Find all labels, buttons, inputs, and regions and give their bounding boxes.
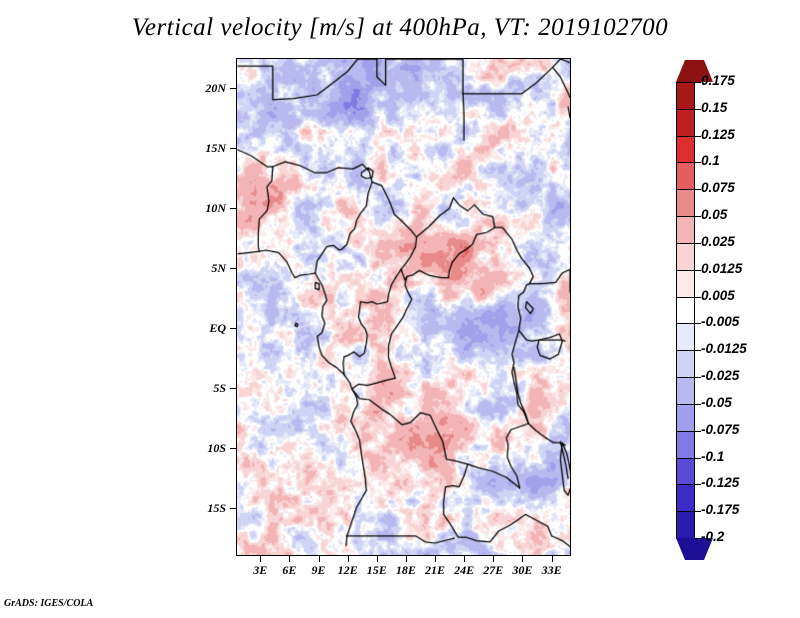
colorbar-band <box>676 431 695 459</box>
colorbar-label: 0.005 <box>701 288 735 303</box>
y-axis-label: 15S <box>190 501 226 516</box>
x-axis-tick <box>406 556 407 562</box>
colorbar-band <box>676 243 695 271</box>
colorbar-label: 0.175 <box>701 73 735 88</box>
x-axis-tick <box>319 556 320 562</box>
colorbar-band <box>676 484 695 512</box>
y-axis-tick <box>230 208 236 209</box>
grads-plot-root: Vertical velocity [m/s] at 400hPa, VT: 2… <box>0 0 800 618</box>
colorbar-band <box>676 109 695 137</box>
x-axis-tick <box>493 556 494 562</box>
colorbar-label: -0.075 <box>701 422 739 437</box>
y-axis-label: 20N <box>190 81 226 96</box>
colorbar-band <box>676 350 695 378</box>
colorbar <box>676 60 695 560</box>
y-axis-label: 10N <box>190 201 226 216</box>
colorbar-band <box>676 404 695 432</box>
colorbar-band <box>676 511 695 539</box>
colorbar-label: -0.05 <box>701 395 732 410</box>
colorbar-label: -0.2 <box>701 529 724 544</box>
y-axis-label: 5S <box>190 381 226 396</box>
colorbar-label: -0.0125 <box>701 341 747 356</box>
x-axis-tick <box>435 556 436 562</box>
y-axis-tick <box>230 508 236 509</box>
x-axis-tick <box>552 556 553 562</box>
colorbar-label: 0.15 <box>701 100 727 115</box>
x-axis-tick <box>464 556 465 562</box>
credit-text: GrADS: IGES/COLA <box>4 598 93 609</box>
colorbar-band <box>676 297 695 325</box>
y-axis-tick <box>230 328 236 329</box>
y-axis-tick <box>230 268 236 269</box>
y-axis-label: 5N <box>190 261 226 276</box>
y-axis-tick <box>230 148 236 149</box>
y-axis-label: 15N <box>190 141 226 156</box>
colorbar-label: 0.0125 <box>701 261 742 276</box>
colorbar-band <box>676 323 695 351</box>
x-axis-tick <box>348 556 349 562</box>
x-axis-tick <box>289 556 290 562</box>
vertical-velocity-heatmap <box>237 59 570 555</box>
colorbar-label: 0.05 <box>701 207 727 222</box>
colorbar-band <box>676 189 695 217</box>
colorbar-band <box>676 216 695 244</box>
colorbar-band <box>676 270 695 298</box>
x-axis-tick <box>522 556 523 562</box>
x-axis-tick <box>260 556 261 562</box>
colorbar-band <box>676 136 695 164</box>
colorbar-label: 0.075 <box>701 180 735 195</box>
y-axis-label: 10S <box>190 441 226 456</box>
colorbar-label: -0.1 <box>701 449 724 464</box>
colorbar-label: -0.005 <box>701 314 739 329</box>
colorbar-label: -0.125 <box>701 475 739 490</box>
colorbar-band <box>676 458 695 486</box>
x-axis-label: 33E <box>532 563 572 578</box>
colorbar-label: -0.175 <box>701 502 739 517</box>
colorbar-band <box>676 162 695 190</box>
colorbar-label: 0.025 <box>701 234 735 249</box>
map-plot-area <box>236 58 571 556</box>
colorbar-label: 0.1 <box>701 153 720 168</box>
y-axis-label: EQ <box>190 321 226 336</box>
page-title: Vertical velocity [m/s] at 400hPa, VT: 2… <box>0 14 800 42</box>
y-axis-tick <box>230 448 236 449</box>
x-axis-tick <box>377 556 378 562</box>
colorbar-band <box>676 82 695 110</box>
colorbar-label: 0.125 <box>701 127 735 142</box>
y-axis-tick <box>230 388 236 389</box>
colorbar-band <box>676 377 695 405</box>
colorbar-label: -0.025 <box>701 368 739 383</box>
y-axis-tick <box>230 88 236 89</box>
